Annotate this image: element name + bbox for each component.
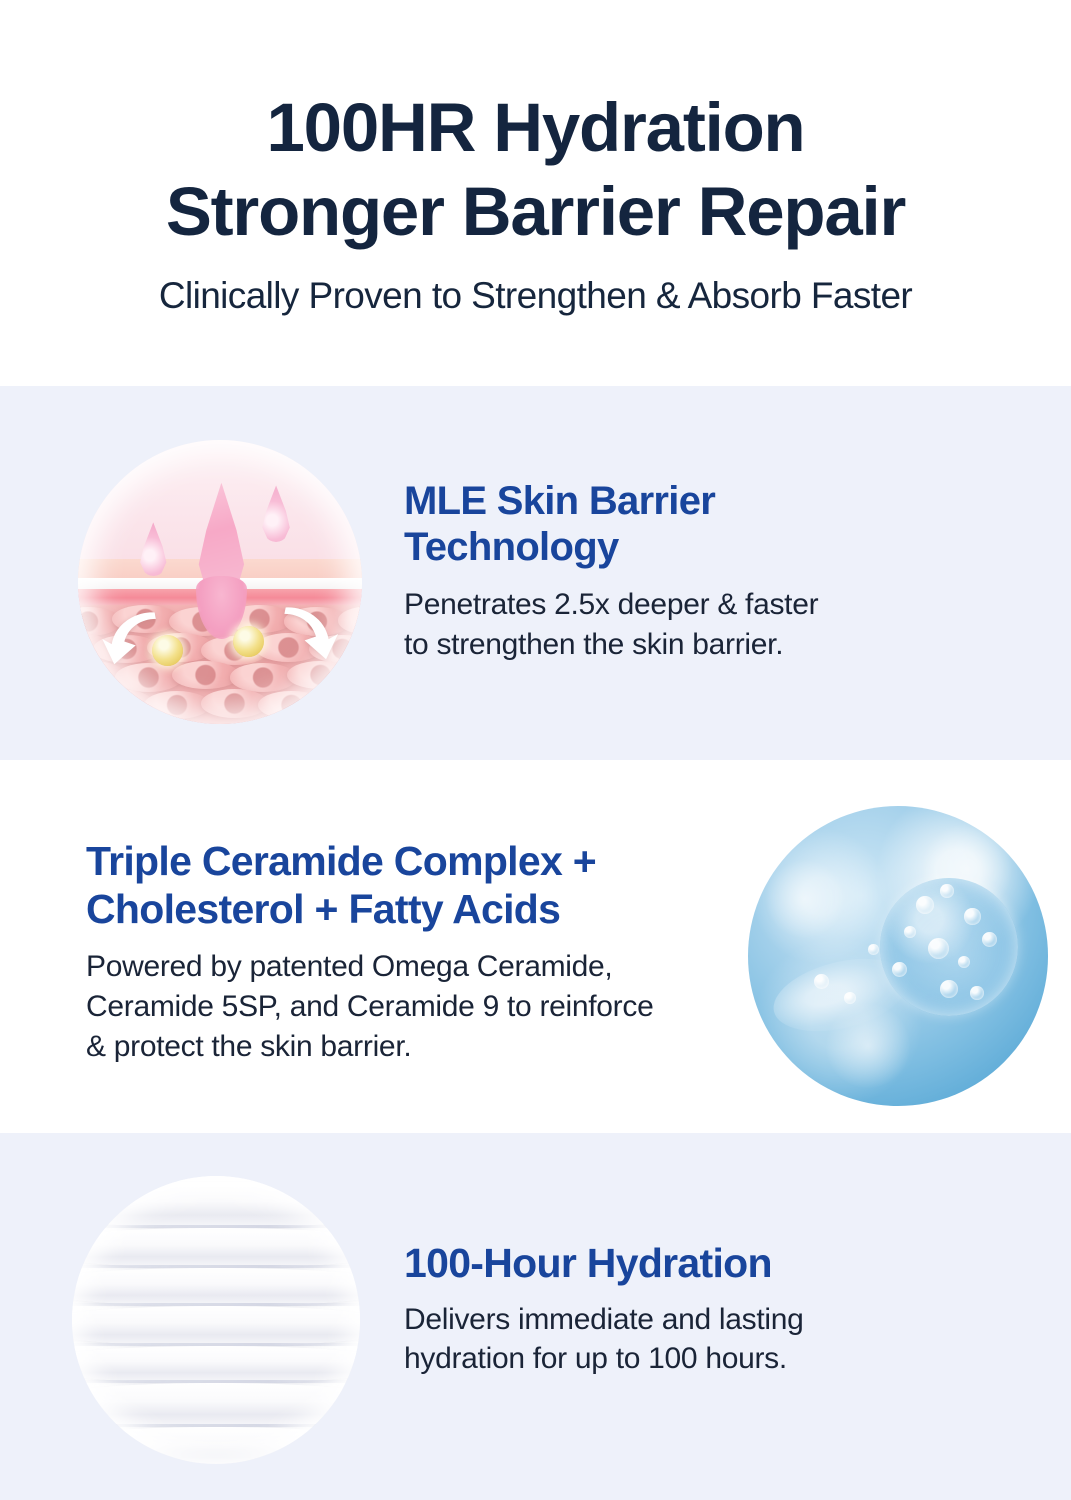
lipid-capsule xyxy=(233,626,264,657)
feature-body-hydration-line-2: hydration for up to 100 hours. xyxy=(404,1339,1004,1379)
water-bubble xyxy=(892,962,907,977)
water-bubble xyxy=(928,938,949,959)
feature-heading-hydration-line-1: 100-Hour Hydration xyxy=(404,1240,1004,1288)
feature-body-ceramide-line-1: Powered by patented Omega Ceramide, xyxy=(86,947,846,987)
feature-body-ceramide-line-3: & protect the skin barrier. xyxy=(86,1027,846,1067)
feature-heading-ceramide-line-2: Cholesterol + Fatty Acids xyxy=(86,886,846,934)
skin-cell xyxy=(230,663,297,692)
feature-heading-ceramide-line-1: Triple Ceramide Complex + xyxy=(86,838,846,886)
feature-heading-mle-line-2: Technology xyxy=(404,524,1004,570)
skin-illustration-clip xyxy=(78,440,362,724)
water-bubble xyxy=(940,884,954,898)
cream-inner-glow xyxy=(72,1176,360,1464)
feature-heading-mle: MLE Skin Barrier Technology xyxy=(404,478,1004,571)
feature-body-mle-line-2: to strengthen the skin barrier. xyxy=(404,625,1004,665)
water-bubble xyxy=(868,944,879,955)
feature-heading-ceramide: Triple Ceramide Complex + Cholesterol + … xyxy=(86,838,846,933)
water-bubble xyxy=(916,896,934,914)
feature-body-mle: Penetrates 2.5x deeper & faster to stren… xyxy=(404,585,1004,665)
feature-text-block-ceramide: Triple Ceramide Complex + Cholesterol + … xyxy=(86,838,846,1067)
feature-heading-hydration: 100-Hour Hydration xyxy=(404,1240,1004,1288)
feature-heading-mle-line-1: MLE Skin Barrier xyxy=(404,478,1004,524)
infographic-page: 100HR Hydration Stronger Barrier Repair … xyxy=(0,0,1071,1500)
skin-cell xyxy=(312,689,362,718)
feature-text-block-hydration: 100-Hour Hydration Delivers immediate an… xyxy=(404,1240,1004,1379)
water-bubble xyxy=(982,932,997,947)
water-bubble xyxy=(970,986,984,1000)
skin-cell xyxy=(172,661,239,690)
water-bubble xyxy=(940,980,958,998)
feature-body-hydration-line-1: Delivers immediate and lasting xyxy=(404,1300,1004,1340)
skin-barrier-cross-section-illustration xyxy=(78,440,362,724)
water-bubble xyxy=(904,926,916,938)
page-subtitle: Clinically Proven to Strengthen & Absorb… xyxy=(0,274,1071,318)
absorption-arrow-right-icon xyxy=(277,605,342,662)
feature-text-block-mle: MLE Skin Barrier Technology Penetrates 2… xyxy=(404,478,1004,665)
page-title-line-1: 100HR Hydration xyxy=(24,86,1047,170)
water-bubble xyxy=(958,956,970,968)
page-title-line-2: Stronger Barrier Repair xyxy=(24,170,1047,254)
absorption-arrow-left-icon xyxy=(98,610,163,667)
feature-body-ceramide: Powered by patented Omega Ceramide, Cera… xyxy=(86,947,846,1067)
header-section: 100HR Hydration Stronger Barrier Repair … xyxy=(0,0,1071,386)
white-cream-texture-swatch-photo xyxy=(72,1176,360,1464)
water-bubble xyxy=(964,908,981,925)
page-title: 100HR Hydration Stronger Barrier Repair xyxy=(0,86,1071,254)
feature-body-mle-line-1: Penetrates 2.5x deeper & faster xyxy=(404,585,1004,625)
feature-body-ceramide-line-2: Ceramide 5SP, and Ceramide 9 to reinforc… xyxy=(86,987,846,1027)
feature-body-hydration: Delivers immediate and lasting hydration… xyxy=(404,1300,1004,1380)
